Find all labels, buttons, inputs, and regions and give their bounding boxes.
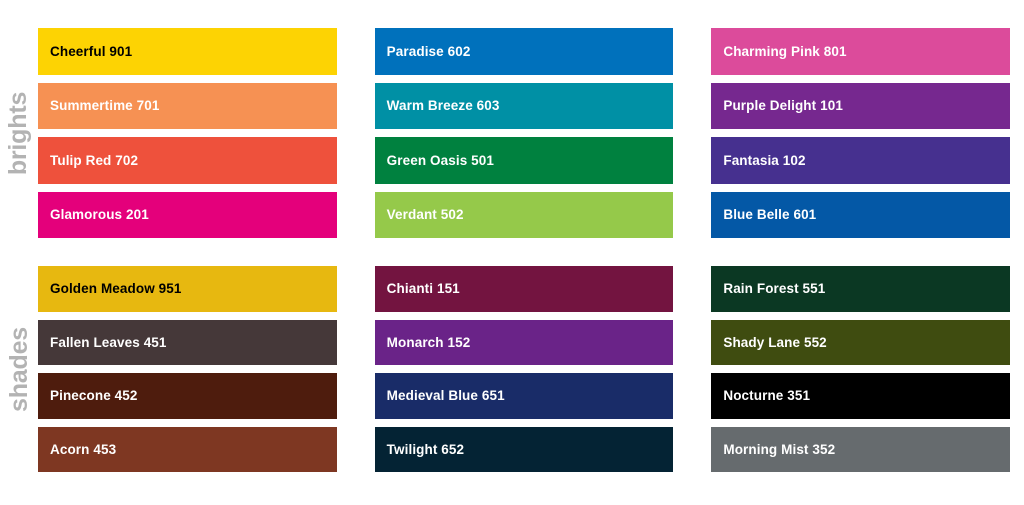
swatch-label: Shady Lane 552 [723,336,826,350]
swatch-label: Glamorous 201 [50,208,149,222]
color-swatch[interactable]: Tulip Red 702 [38,137,337,184]
color-swatch[interactable]: Shady Lane 552 [711,320,1010,366]
color-swatch[interactable]: Verdant 502 [375,192,674,239]
swatch-label: Monarch 152 [387,336,471,350]
swatch-label: Acorn 453 [50,443,116,457]
palette-group-shades: shades Golden Meadow 951 Fallen Leaves 4… [0,266,1024,472]
color-swatch[interactable]: Purple Delight 101 [711,83,1010,130]
group-label-shades: shades [0,266,38,472]
group-label-brights: brights [0,28,38,238]
swatch-label: Purple Delight 101 [723,99,843,113]
swatch-columns-brights: Cheerful 901 Summertime 701 Tulip Red 70… [38,28,1010,238]
swatch-column: Golden Meadow 951 Fallen Leaves 451 Pine… [38,266,337,472]
swatch-label: Pinecone 452 [50,389,138,403]
color-swatch[interactable]: Acorn 453 [38,427,337,473]
color-swatch[interactable]: Fantasia 102 [711,137,1010,184]
swatch-label: Nocturne 351 [723,389,810,403]
swatch-column: Rain Forest 551 Shady Lane 552 Nocturne … [711,266,1010,472]
swatch-column: Chianti 151 Monarch 152 Medieval Blue 65… [375,266,674,472]
color-palette-chart: brights Cheerful 901 Summertime 701 Tuli… [0,0,1024,505]
swatch-label: Medieval Blue 651 [387,389,505,403]
swatch-label: Charming Pink 801 [723,45,846,59]
swatch-label: Tulip Red 702 [50,154,138,168]
swatch-columns-shades: Golden Meadow 951 Fallen Leaves 451 Pine… [38,266,1010,472]
swatch-label: Summertime 701 [50,99,159,113]
swatch-label: Fantasia 102 [723,154,805,168]
palette-group-brights: brights Cheerful 901 Summertime 701 Tuli… [0,28,1024,238]
swatch-label: Morning Mist 352 [723,443,835,457]
swatch-label: Fallen Leaves 451 [50,336,167,350]
color-swatch[interactable]: Nocturne 351 [711,373,1010,419]
color-swatch[interactable]: Chianti 151 [375,266,674,312]
color-swatch[interactable]: Twilight 652 [375,427,674,473]
color-swatch[interactable]: Rain Forest 551 [711,266,1010,312]
group-label-brights-text: brights [5,91,34,174]
color-swatch[interactable]: Summertime 701 [38,83,337,130]
color-swatch[interactable]: Warm Breeze 603 [375,83,674,130]
color-swatch[interactable]: Medieval Blue 651 [375,373,674,419]
swatch-label: Golden Meadow 951 [50,282,181,296]
swatch-column: Charming Pink 801 Purple Delight 101 Fan… [711,28,1010,238]
color-swatch[interactable]: Green Oasis 501 [375,137,674,184]
color-swatch[interactable]: Blue Belle 601 [711,192,1010,239]
color-swatch[interactable]: Morning Mist 352 [711,427,1010,473]
swatch-label: Blue Belle 601 [723,208,816,222]
color-swatch[interactable]: Fallen Leaves 451 [38,320,337,366]
swatch-label: Twilight 652 [387,443,464,457]
color-swatch[interactable]: Glamorous 201 [38,192,337,239]
color-swatch[interactable]: Pinecone 452 [38,373,337,419]
swatch-label: Rain Forest 551 [723,282,825,296]
color-swatch[interactable]: Golden Meadow 951 [38,266,337,312]
swatch-label: Cheerful 901 [50,45,132,59]
swatch-column: Paradise 602 Warm Breeze 603 Green Oasis… [375,28,674,238]
swatch-label: Chianti 151 [387,282,460,296]
swatch-label: Verdant 502 [387,208,464,222]
swatch-label: Paradise 602 [387,45,471,59]
swatch-label: Warm Breeze 603 [387,99,500,113]
swatch-column: Cheerful 901 Summertime 701 Tulip Red 70… [38,28,337,238]
group-label-shades-text: shades [5,327,34,412]
color-swatch[interactable]: Charming Pink 801 [711,28,1010,75]
color-swatch[interactable]: Cheerful 901 [38,28,337,75]
color-swatch[interactable]: Monarch 152 [375,320,674,366]
swatch-label: Green Oasis 501 [387,154,494,168]
color-swatch[interactable]: Paradise 602 [375,28,674,75]
